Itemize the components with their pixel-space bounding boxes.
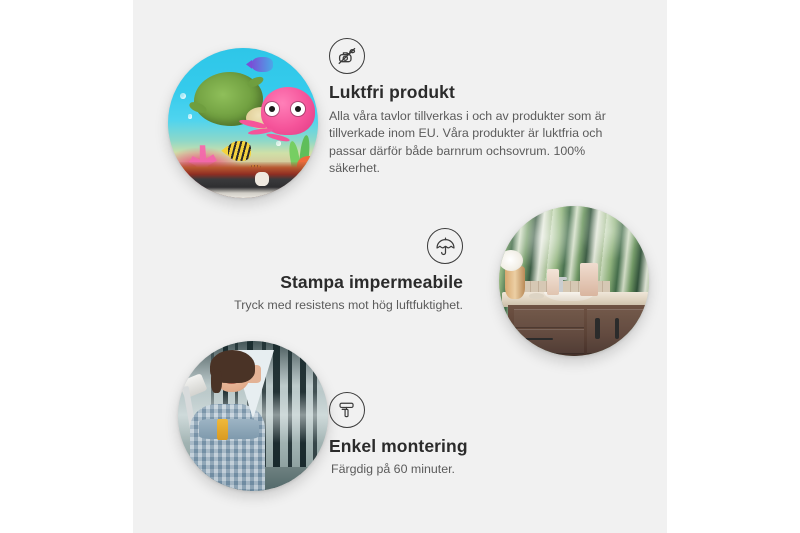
content-panel: Luktfri produkt Alla våra tavlor tillver… — [133, 0, 667, 533]
feature-title: Stampa impermeabile — [188, 272, 463, 294]
feature-body: Tryck med resistens mot hög luftfuktighe… — [188, 297, 463, 314]
towel — [580, 263, 598, 296]
octopus-eye — [265, 102, 279, 115]
cabinet-handle — [525, 338, 553, 340]
soap-dish — [529, 293, 544, 299]
woman-hair — [210, 350, 255, 383]
paint-bottle — [217, 419, 228, 440]
cabinet-drawer — [514, 309, 585, 328]
paint-roller-icon — [329, 392, 365, 428]
photo-forest-art — [178, 341, 328, 491]
vase — [505, 266, 525, 299]
bubble-icon — [180, 93, 186, 99]
turtle-flipper — [246, 75, 264, 89]
cabinet-handle — [595, 318, 599, 338]
photo-forest — [178, 341, 328, 491]
feature-body: Färgdig på 60 minuter. — [331, 461, 599, 478]
print-bottom-strip — [168, 162, 318, 198]
turtle-flipper — [188, 100, 208, 115]
cabinet-drawer — [514, 329, 585, 353]
feature-odourless: Luktfri produkt Alla våra tavlor tillver… — [329, 38, 629, 178]
sea-turtle-icon — [194, 72, 263, 126]
bubble-icon — [276, 141, 281, 146]
feature-waterproof: Stampa impermeabile Tryck med resistens … — [188, 228, 463, 314]
feature-title: Luktfri produkt — [329, 82, 629, 104]
flowers — [499, 250, 523, 271]
feature-body: Alla våra tavlor tillverkas i och av pro… — [329, 108, 629, 178]
page-root: Luktfri produkt Alla våra tavlor tillver… — [0, 0, 800, 533]
bubble-icon — [188, 114, 193, 119]
yellow-fish-icon — [227, 141, 251, 161]
towel — [547, 269, 559, 295]
woman-arm — [199, 419, 259, 439]
octopus-icon — [261, 87, 315, 135]
photo-bathroom — [499, 206, 649, 356]
photo-bathroom-art — [499, 206, 649, 356]
photo-underwater-art — [168, 48, 318, 198]
woman-body — [190, 404, 265, 491]
feature-title: Enkel montering — [329, 436, 599, 458]
faucet — [559, 277, 563, 294]
octopus-eye — [291, 102, 305, 115]
photo-underwater — [168, 48, 318, 198]
umbrella-icon — [427, 228, 463, 264]
no-smell-perfume-bottle-icon — [329, 38, 365, 74]
vanity-cabinet — [508, 305, 649, 356]
cabinet-handle — [615, 318, 619, 338]
blue-fish-icon — [251, 57, 274, 72]
feature-easy-install: Enkel montering Färgdig på 60 minuter. — [329, 392, 599, 478]
